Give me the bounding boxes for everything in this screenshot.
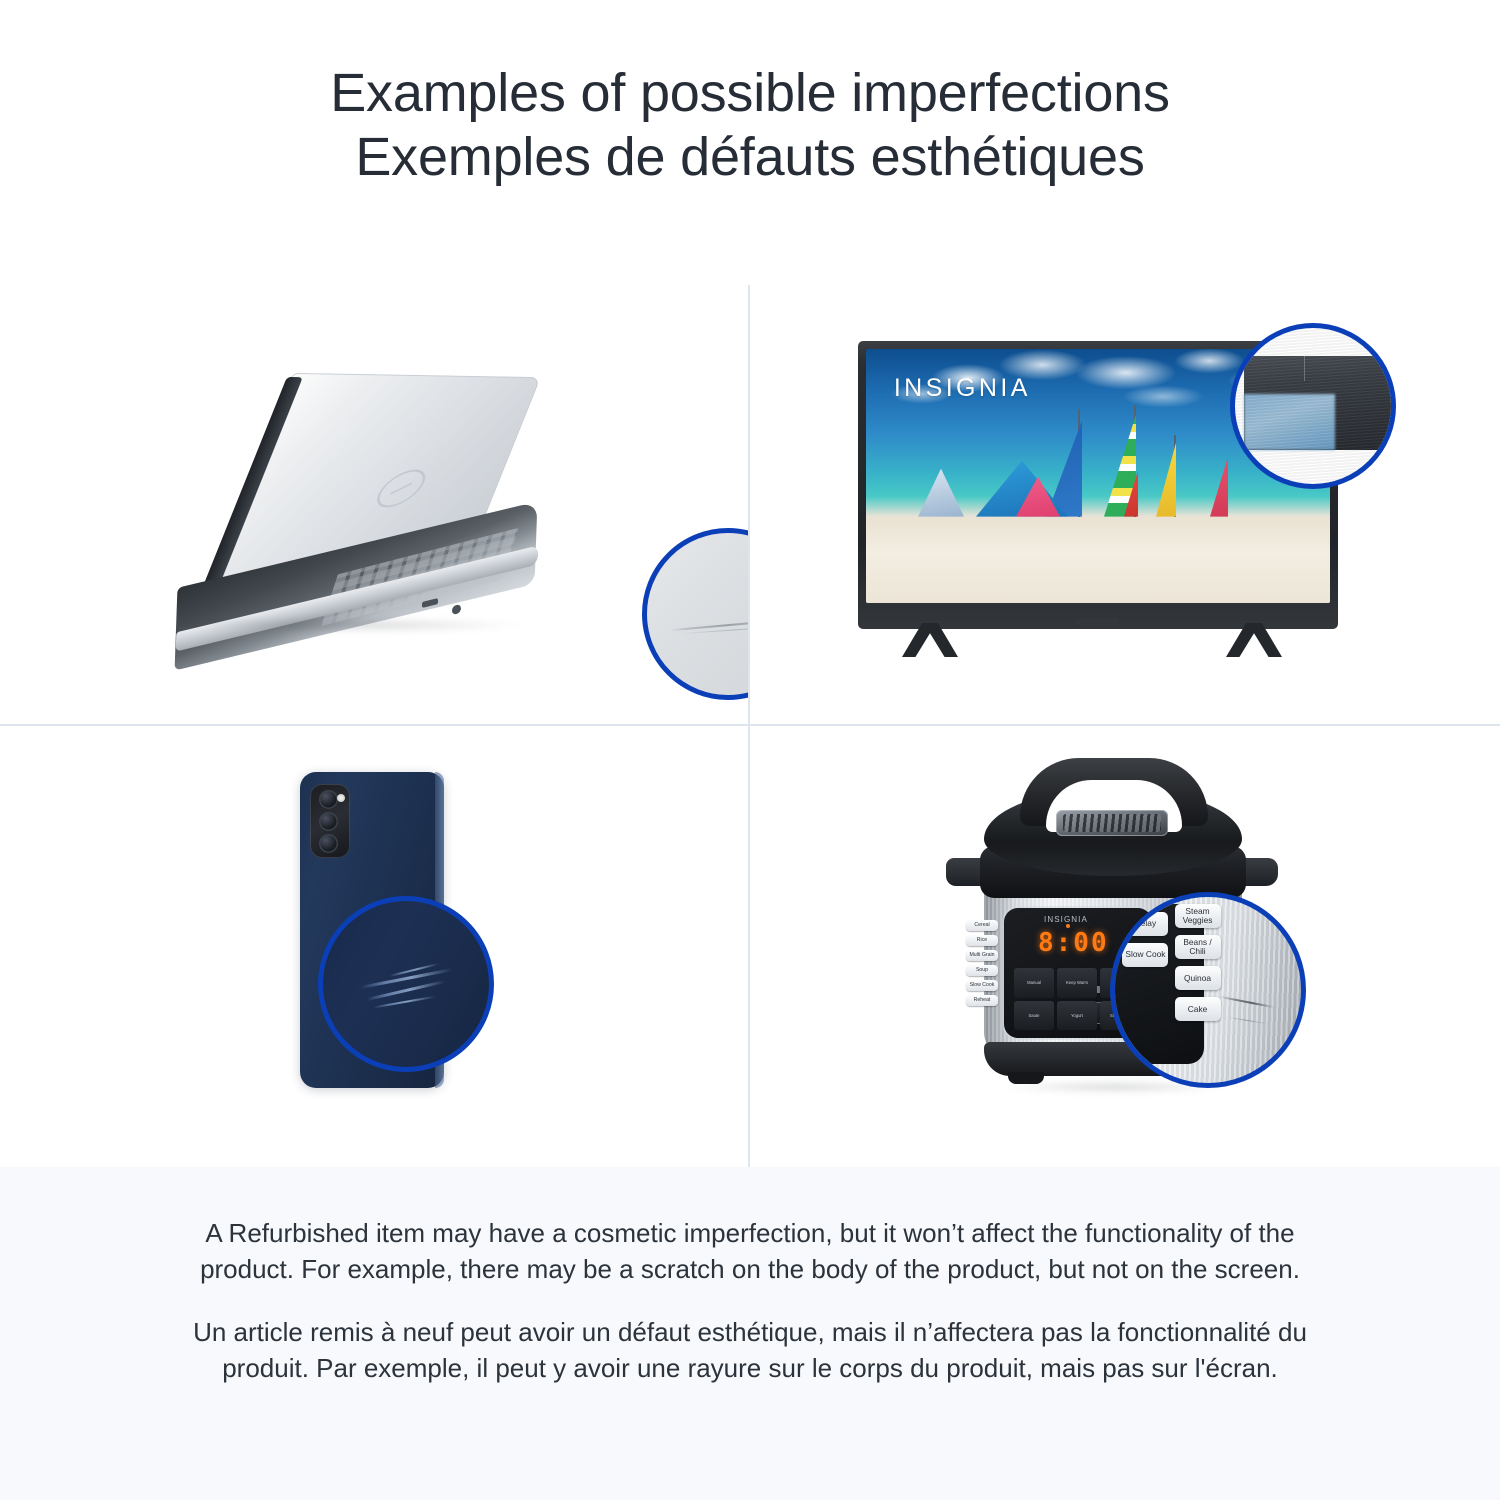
cooker-magnifier-circle: Delay Slow Cook Steam Veggies Beans / Ch… [1110, 892, 1306, 1088]
cooker-magnified-button-slowcook: Slow Cook [1122, 943, 1168, 967]
panel-smartphone [0, 726, 750, 1167]
cooker-display-time: 8:00 [1038, 928, 1109, 958]
camera-flash-icon [337, 794, 345, 802]
smartphone-magnifier-circle [318, 896, 494, 1072]
cooker-left-button-column[interactable]: Cereal Rice Multi Grain Soup Slow Cook R… [966, 920, 998, 1006]
smartphone-illustration [0, 726, 748, 1167]
pressure-cooker-image: INSIGNIA 8:00 Pressure Cook Cereal Rice … [960, 750, 1310, 1110]
television-logo-nub [1076, 619, 1118, 626]
cooker-magnified-right-buttons: Steam Veggies Beans / Chili Quinoa Cake [1175, 904, 1221, 1021]
footer-paragraph-french: Un article remis à neuf peut avoir un dé… [180, 1314, 1320, 1387]
television-magnifier-circle [1230, 323, 1396, 489]
cooker-pad-manual[interactable]: Manual [1014, 968, 1054, 998]
laptop-illustration [0, 285, 748, 724]
cooker-pad-yogurt[interactable]: Yogurt [1057, 1001, 1097, 1031]
cooker-magnified-button-steamveggies: Steam Veggies [1175, 904, 1221, 928]
cooker-button-soup[interactable]: Soup [966, 965, 998, 976]
television-image: INSIGNIA [858, 323, 1348, 678]
pressure-cooker-illustration: INSIGNIA 8:00 Pressure Cook Cereal Rice … [750, 726, 1500, 1167]
cooker-magnified-button-delay: Delay [1122, 912, 1168, 936]
cooker-magnified-button-cake: Cake [1175, 997, 1221, 1021]
cooker-magnified-left-buttons: Delay Slow Cook [1122, 912, 1168, 967]
footer-description: A Refurbished item may have a cosmetic i… [0, 1167, 1500, 1500]
camera-lens-icon-3 [319, 834, 338, 853]
cooker-lid-vent-plate [1056, 810, 1168, 836]
cooker-button-multigrain[interactable]: Multi Grain [966, 950, 998, 961]
television-illustration: INSIGNIA [750, 285, 1500, 724]
smartphone-image [300, 772, 470, 1102]
smartphone-camera-module [310, 784, 350, 858]
cooker-button-reheat[interactable]: Reheat [966, 995, 998, 1006]
laptop-brand-logo-icon [368, 468, 434, 509]
cooker-button-cereal[interactable]: Cereal [966, 920, 998, 931]
cooker-magnified-button-beanschili: Beans / Chili [1175, 935, 1221, 959]
television-brand-logo: INSIGNIA [894, 374, 1031, 403]
laptop-audio-port [452, 604, 461, 615]
laptop-image [170, 373, 590, 643]
cooker-pad-saute[interactable]: Saute [1014, 1001, 1054, 1031]
panel-television: INSIGNIA [750, 285, 1500, 726]
cooker-magnified-button-quinoa: Quinoa [1175, 966, 1221, 990]
page-header: Examples of possible imperfections Exemp… [0, 0, 1500, 189]
panel-laptop [0, 285, 750, 726]
cooker-brand-label: INSIGNIA [1044, 915, 1088, 924]
laptop-magnifier-circle [642, 528, 750, 700]
cooker-button-rice[interactable]: Rice [966, 935, 998, 946]
television-corner-grain [1235, 328, 1391, 484]
panel-pressure-cooker: INSIGNIA 8:00 Pressure Cook Cereal Rice … [750, 726, 1500, 1167]
screen-sand [866, 517, 1330, 603]
footer-paragraph-english: A Refurbished item may have a cosmetic i… [180, 1215, 1320, 1288]
page-title-french: Exemples de défauts esthétiques [0, 126, 1500, 190]
page-title-english: Examples of possible imperfections [0, 62, 1500, 126]
camera-lens-icon-2 [319, 812, 338, 831]
cooker-button-slowcook[interactable]: Slow Cook [966, 980, 998, 991]
examples-grid: INSIGNIA [0, 285, 1500, 1167]
cooker-pad-keepwarm[interactable]: Keep Warm [1057, 968, 1097, 998]
laptop-shadow [192, 617, 522, 633]
camera-lens-icon-1 [319, 790, 338, 809]
